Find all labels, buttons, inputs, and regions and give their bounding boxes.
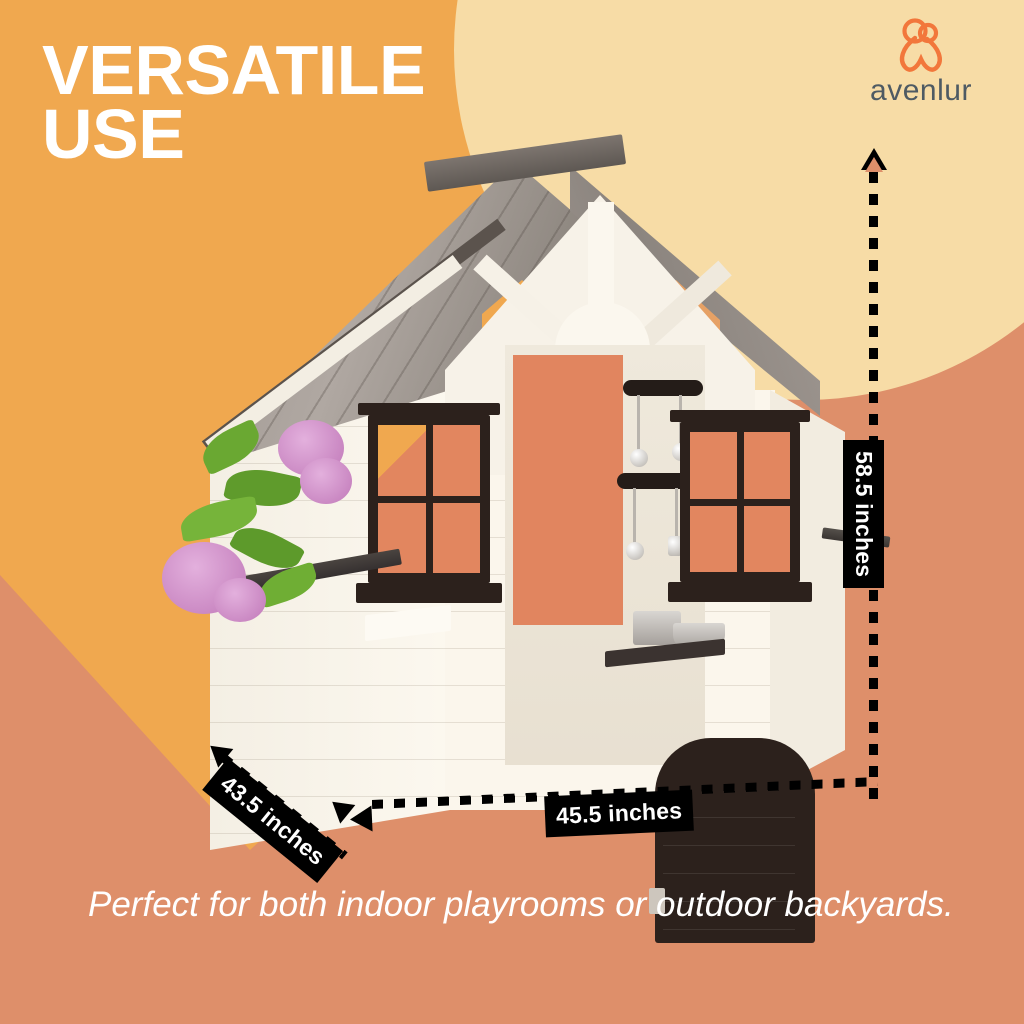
leaf bbox=[196, 418, 267, 475]
ladle-bowl-1 bbox=[630, 449, 648, 467]
width-dimension-label: 45.5 inches bbox=[544, 790, 694, 838]
ladle-bowl-3 bbox=[626, 542, 644, 560]
interior-back-panel bbox=[513, 355, 623, 625]
pane bbox=[744, 506, 791, 573]
window-right-header bbox=[670, 410, 810, 422]
window-left-sill bbox=[356, 583, 502, 603]
utensil-rack-upper bbox=[623, 380, 703, 396]
brand-wordmark: avenlur bbox=[846, 74, 996, 108]
pane bbox=[433, 425, 481, 496]
width-arrow-left bbox=[349, 806, 372, 833]
pane bbox=[378, 425, 426, 496]
headline-line-1: VERSATILE bbox=[42, 38, 602, 102]
height-dimension-label: 58.5 inches bbox=[843, 440, 884, 588]
caption-text: Perfect for both indoor playrooms or out… bbox=[88, 884, 968, 927]
front-opening-interior bbox=[505, 345, 705, 765]
pane bbox=[690, 506, 737, 573]
height-arrow-top bbox=[861, 148, 887, 170]
window-right-sill bbox=[668, 582, 812, 602]
utensil-hanging-4 bbox=[675, 488, 678, 540]
window-right-panes bbox=[690, 432, 790, 572]
utensil-hanging-1 bbox=[637, 395, 640, 453]
pane bbox=[433, 503, 481, 574]
pane bbox=[690, 432, 737, 499]
pane bbox=[744, 432, 791, 499]
brand-logo: avenlur bbox=[846, 18, 996, 110]
playhouse-image bbox=[150, 140, 870, 820]
hydrangea-plant bbox=[140, 410, 355, 660]
utensil-hanging-3 bbox=[633, 488, 636, 546]
window-right bbox=[680, 422, 800, 582]
bloom bbox=[300, 458, 352, 504]
bloom bbox=[214, 578, 266, 622]
poster-canvas: VERSATILE USE avenlur bbox=[0, 0, 1024, 1024]
window-left-header bbox=[358, 403, 500, 415]
avenlur-figure-icon bbox=[890, 18, 952, 74]
